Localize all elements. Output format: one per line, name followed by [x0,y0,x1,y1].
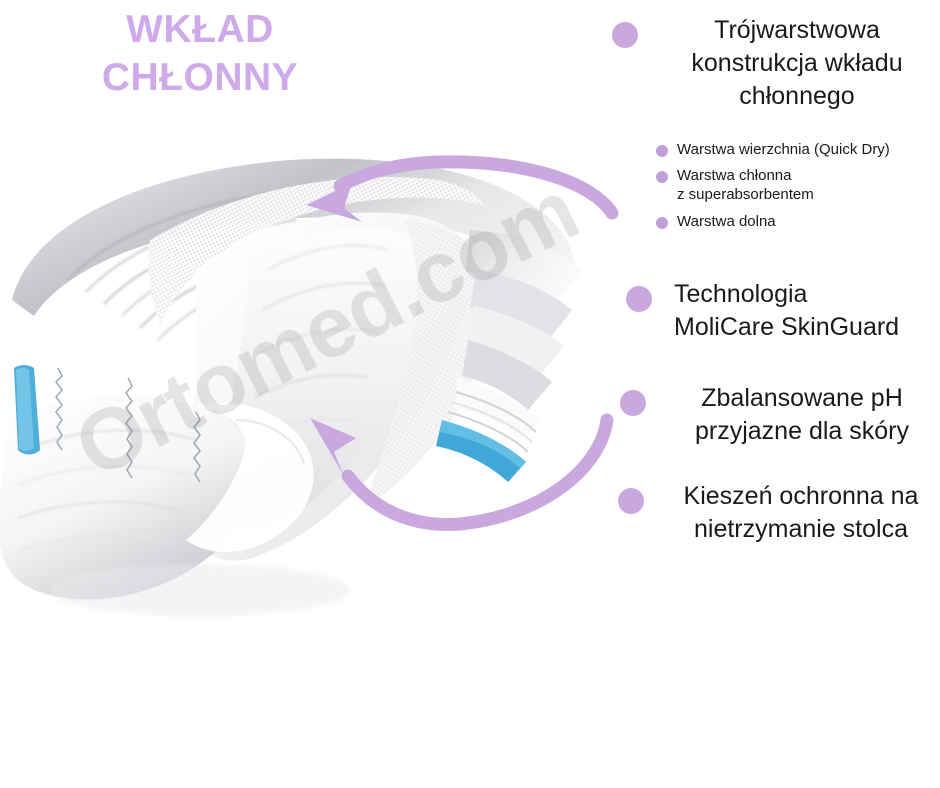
feature-item-2[interactable]: Zbalansowane pH przyjazne dla skóry [620,382,940,448]
product-illustration [0,120,620,620]
layer-item-0[interactable]: Warstwa wierzchnia (Quick Dry) [656,140,940,159]
bullet-icon [612,22,638,48]
layer-item-2[interactable]: Warstwa dolna [656,212,940,231]
layer-label: Warstwa wierzchnia (Quick Dry) [668,140,940,159]
bullet-icon [656,171,668,183]
bullet-icon [618,488,644,514]
feature-item-0[interactable]: Trójwarstwowa konstrukcja wkładu chłonne… [612,14,940,113]
feature-item-1[interactable]: Technologia MoliCare SkinGuard [626,278,940,344]
feature-label: Trójwarstwowa konstrukcja wkładu chłonne… [638,14,940,113]
bullet-icon [620,390,646,416]
feature-list: Trójwarstwowa konstrukcja wkładu chłonne… [612,0,940,600]
product-image [0,120,620,620]
feature-item-3[interactable]: Kieszeń ochronna na nietrzymanie stolca [618,480,940,546]
layer-item-1[interactable]: Warstwa chłonna z superabsorbentem [656,166,940,204]
bullet-icon [656,145,668,157]
layer-list: Warstwa wierzchnia (Quick Dry) Warstwa c… [656,140,940,238]
bullet-icon [626,286,652,312]
feature-label: Technologia MoliCare SkinGuard [652,278,940,344]
bullet-icon [656,217,668,229]
layer-label: Warstwa chłonna z superabsorbentem [668,166,940,204]
feature-label: Kieszeń ochronna na nietrzymanie stolca [644,480,940,546]
page-title: WKŁAD CHŁONNY [0,6,400,101]
layer-label: Warstwa dolna [668,212,940,231]
feature-label: Zbalansowane pH przyjazne dla skóry [646,382,940,448]
